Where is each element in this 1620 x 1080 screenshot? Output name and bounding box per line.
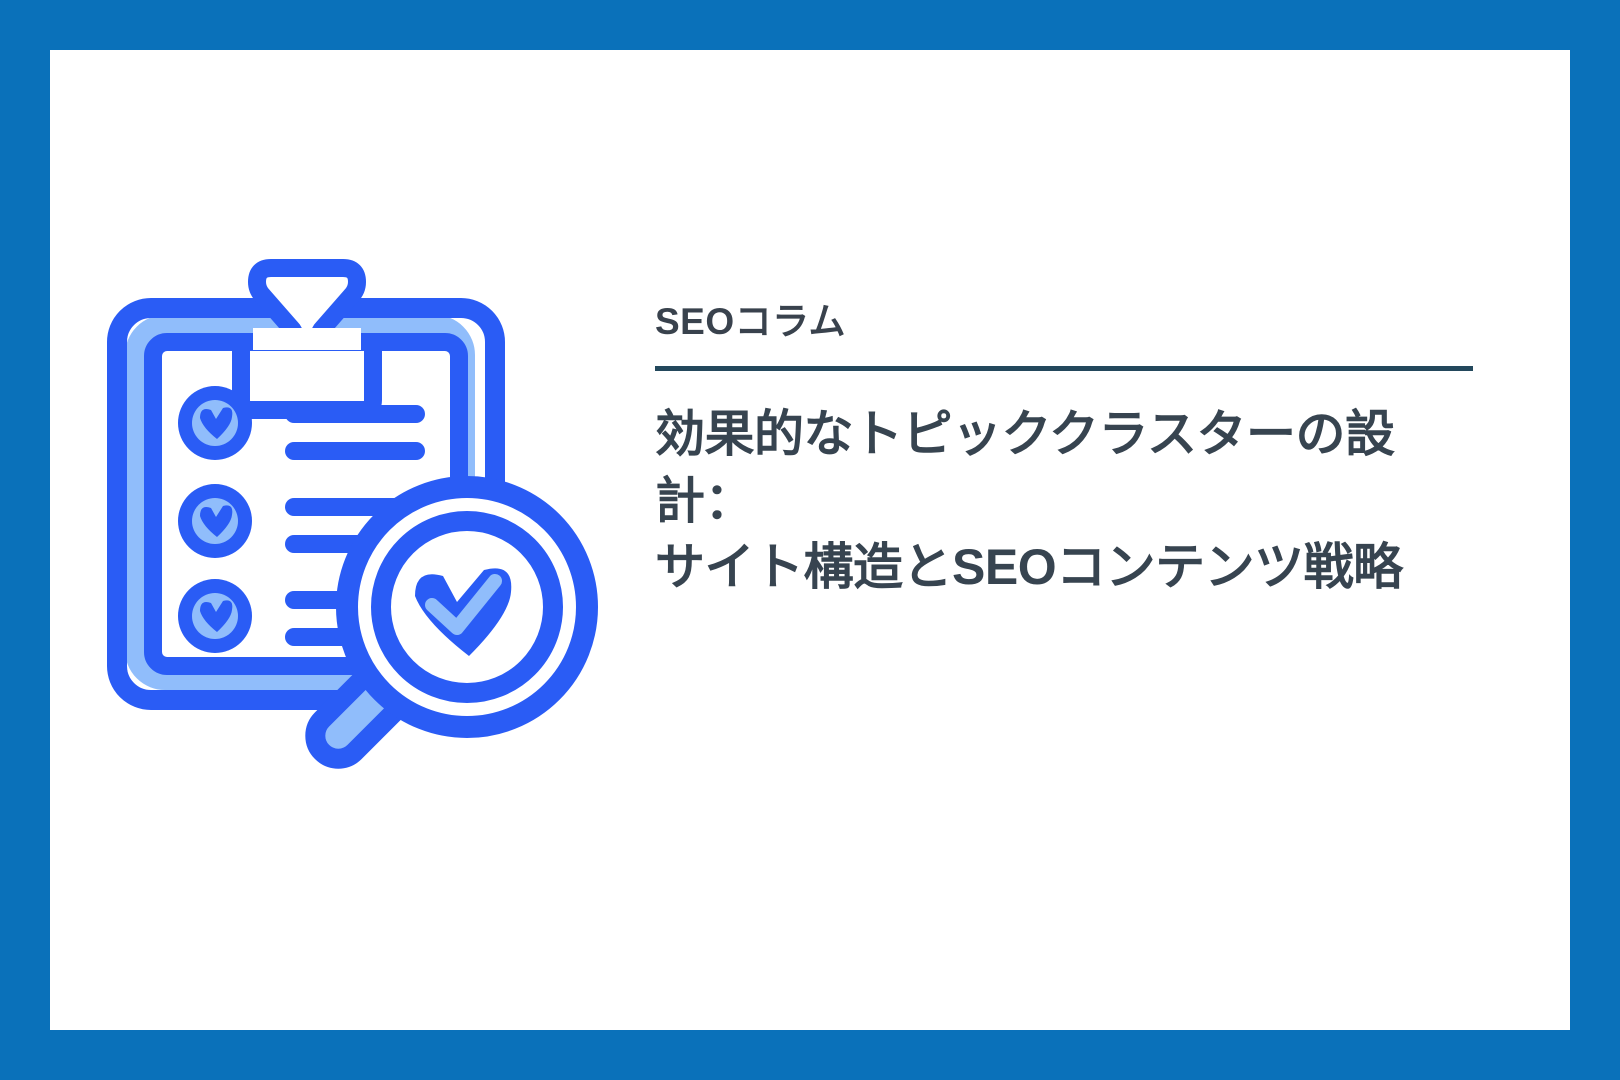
slide-canvas: SEOコラム 効果的なトピッククラスターの設 計： サイト構造とSEOコンテンツ… <box>0 0 1620 1080</box>
checkbox-item-2 <box>178 484 252 558</box>
content-card: SEOコラム 効果的なトピッククラスターの設 計： サイト構造とSEOコンテンツ… <box>50 50 1570 1030</box>
page-title-line-1: 効果的なトピッククラスターの設 <box>655 401 1525 468</box>
page-title-line-2: 計： <box>655 468 1525 535</box>
text-line-1 <box>285 405 425 423</box>
text-line-2 <box>285 442 425 460</box>
clipboard-checklist-magnifier-icon <box>95 230 655 790</box>
checkbox-item-1 <box>178 386 252 460</box>
checkbox-item-3 <box>178 579 252 653</box>
article-text-block: SEOコラム 効果的なトピッククラスターの設 計： サイト構造とSEOコンテンツ… <box>655 300 1525 601</box>
page-title: 効果的なトピッククラスターの設 計： サイト構造とSEOコンテンツ戦略 <box>655 401 1525 601</box>
title-divider <box>655 366 1473 371</box>
clipboard-clip <box>241 268 373 410</box>
eyebrow-label: SEOコラム <box>655 300 1525 344</box>
page-title-line-3: サイト構造とSEOコンテンツ戦略 <box>655 534 1525 601</box>
